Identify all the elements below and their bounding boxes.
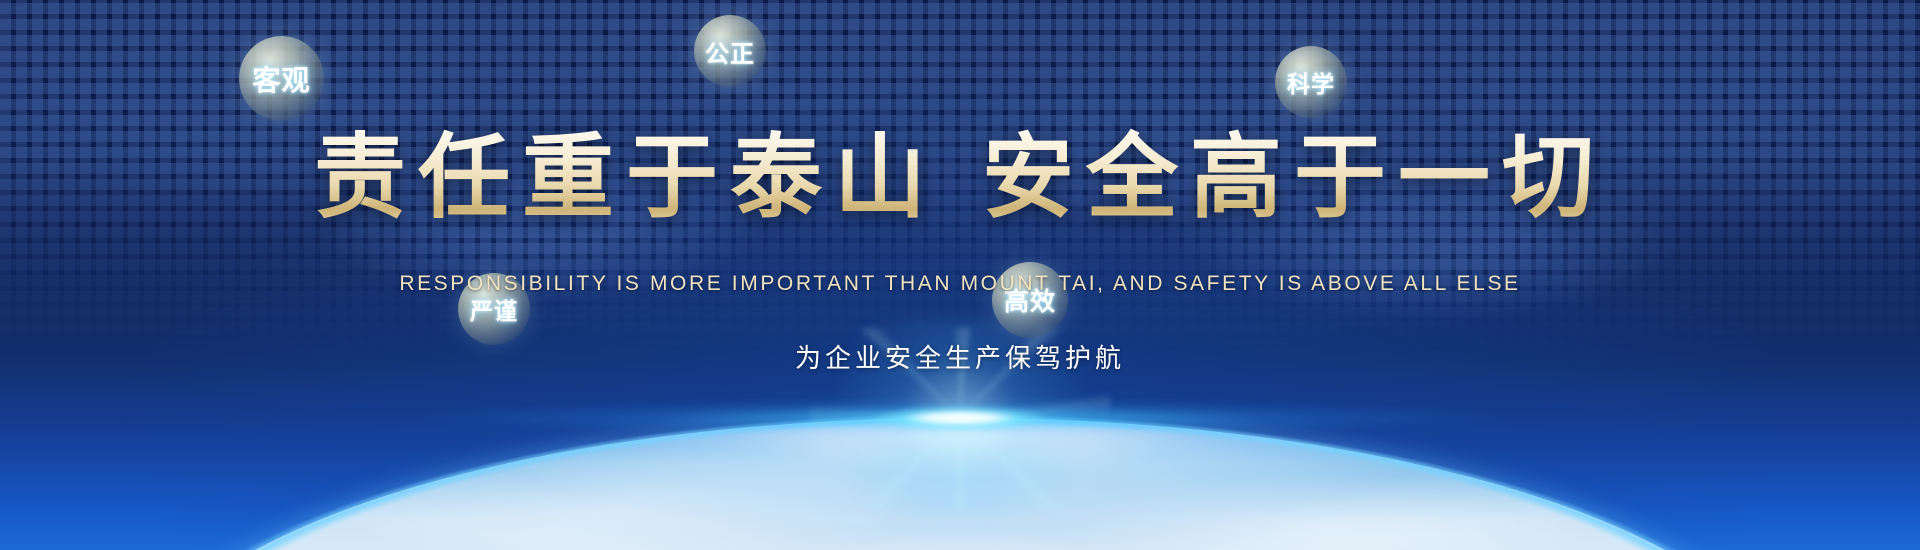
keyword-badge: 客观	[239, 36, 324, 121]
keyword-badge-label: 科学	[1287, 65, 1335, 99]
headline-title: 责任重于泰山 安全高于一切	[314, 128, 1606, 227]
hero-banner: 客观公正科学严谨高效 责任重于泰山 安全高于一切 RESPONSIBILITY …	[0, 0, 1920, 550]
keyword-badge-label: 严谨	[470, 292, 518, 326]
light-flare-core	[870, 405, 1050, 431]
page-title: 责任重于泰山 安全高于一切	[0, 128, 1920, 227]
keyword-badge-label: 客观	[252, 59, 310, 99]
headline-tagline-chinese: 为企业安全生产保驾护航	[0, 338, 1920, 375]
keyword-badge: 科学	[1275, 46, 1347, 118]
headline-subtitle-english: RESPONSIBILITY IS MORE IMPORTANT THAN MO…	[0, 272, 1920, 296]
keyword-badge-label: 公正	[705, 34, 755, 69]
keyword-badge: 公正	[694, 15, 766, 87]
